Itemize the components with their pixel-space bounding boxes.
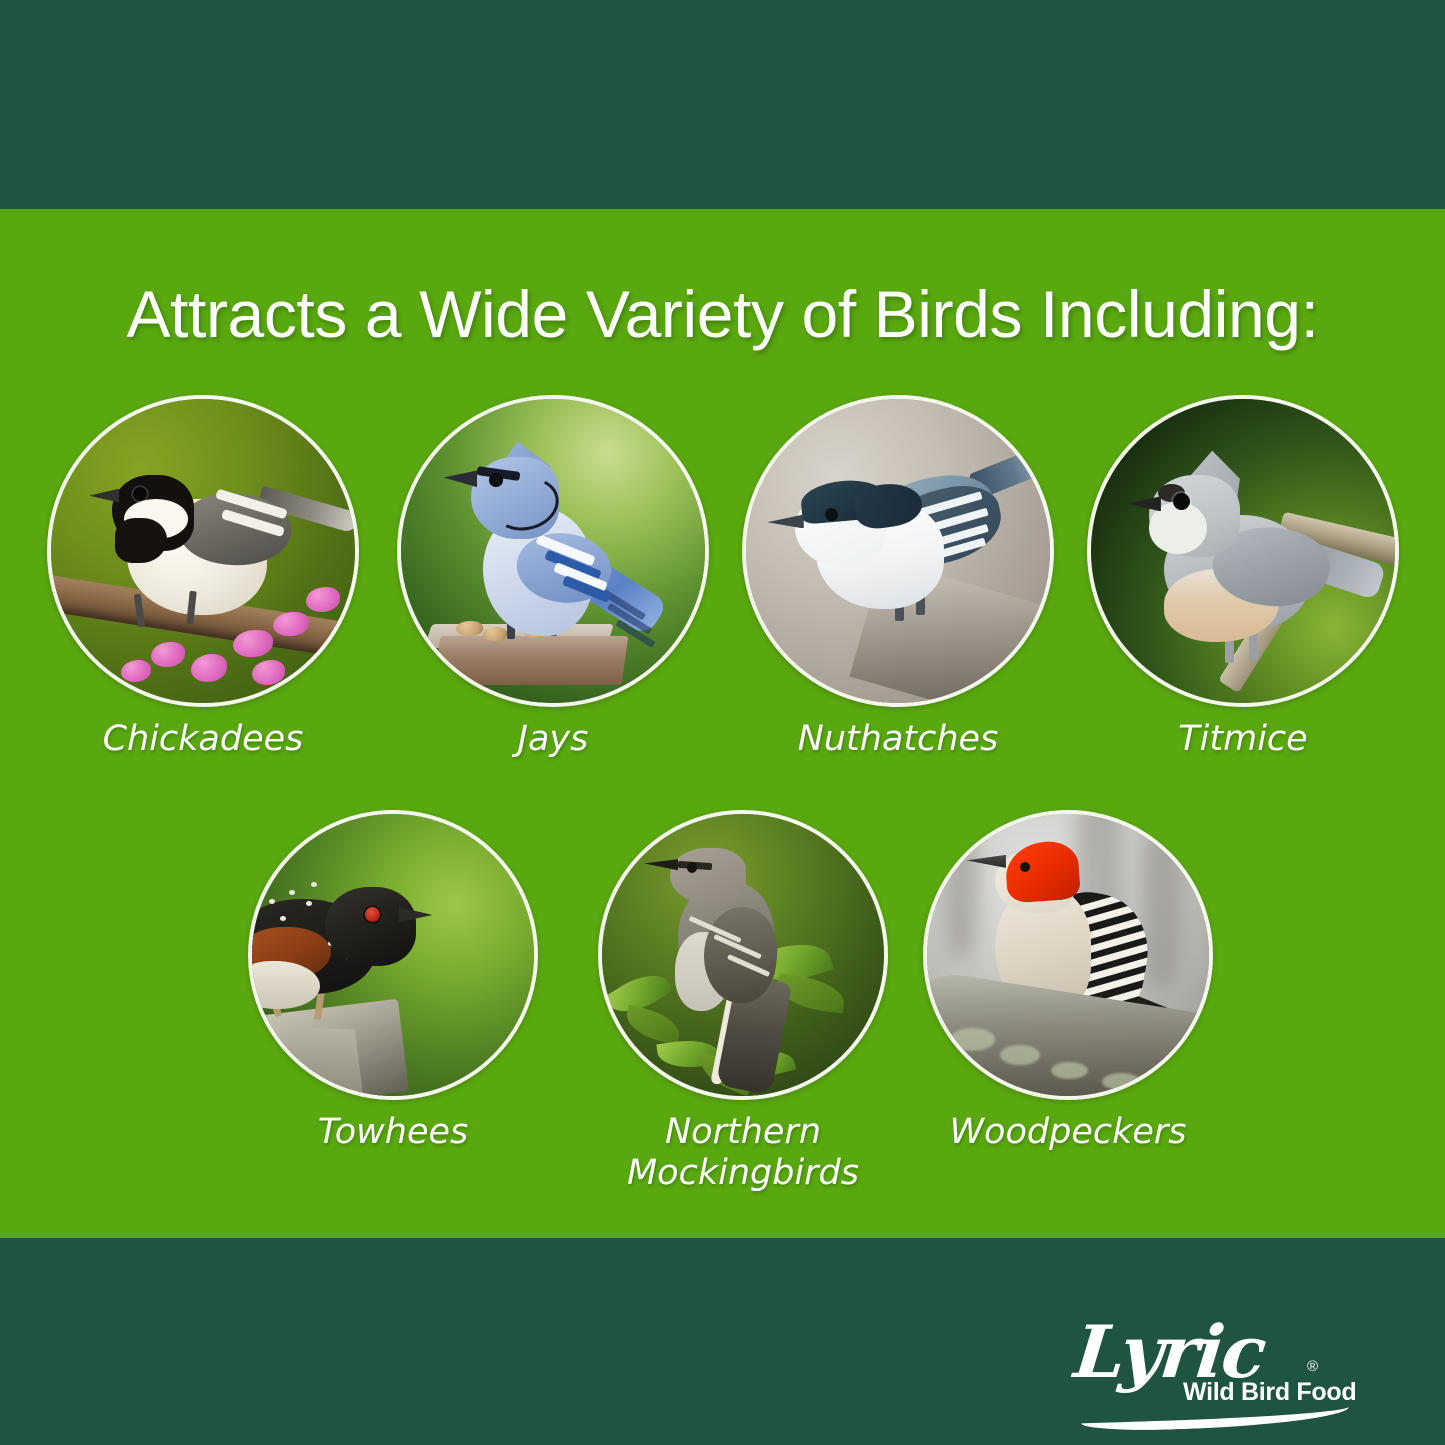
product-feature-panel: Attracts a Wide Variety of Birds Includi… — [0, 0, 1445, 1445]
bird-card-titmice[interactable]: Titmice — [1087, 395, 1399, 760]
bird-label: Jays — [397, 719, 709, 760]
towhee-photo — [248, 810, 538, 1100]
bird-label: Towhees — [248, 1112, 538, 1153]
logo-swoosh-shape — [1081, 1397, 1350, 1432]
blue-jay-photo — [397, 395, 709, 707]
bird-label: Woodpeckers — [923, 1112, 1213, 1153]
bird-card-chickadees[interactable]: Chickadees — [47, 395, 359, 760]
chickadee-photo — [47, 395, 359, 707]
bird-card-northern-mockingbirds[interactable]: Northern Mockingbirds — [598, 810, 888, 1193]
bird-card-woodpeckers[interactable]: Woodpeckers — [923, 810, 1213, 1153]
bird-label: Chickadees — [47, 719, 359, 760]
bird-card-towhees[interactable]: Towhees — [248, 810, 538, 1153]
bird-label: Nuthatches — [742, 719, 1054, 760]
brand-logo[interactable]: Lyric ® Wild Bird Food — [1075, 1316, 1375, 1428]
registered-trademark-icon: ® — [1307, 1358, 1318, 1375]
woodpecker-photo — [923, 810, 1213, 1100]
bird-card-nuthatches[interactable]: Nuthatches — [742, 395, 1054, 760]
mockingbird-photo — [598, 810, 888, 1100]
top-banner-band — [0, 0, 1445, 209]
bird-label: Northern Mockingbirds — [598, 1112, 888, 1193]
page-title: Attracts a Wide Variety of Birds Includi… — [0, 276, 1445, 352]
nuthatch-photo — [742, 395, 1054, 707]
titmouse-photo — [1087, 395, 1399, 707]
bird-label: Titmice — [1087, 719, 1399, 760]
bird-card-jays[interactable]: Jays — [397, 395, 709, 760]
